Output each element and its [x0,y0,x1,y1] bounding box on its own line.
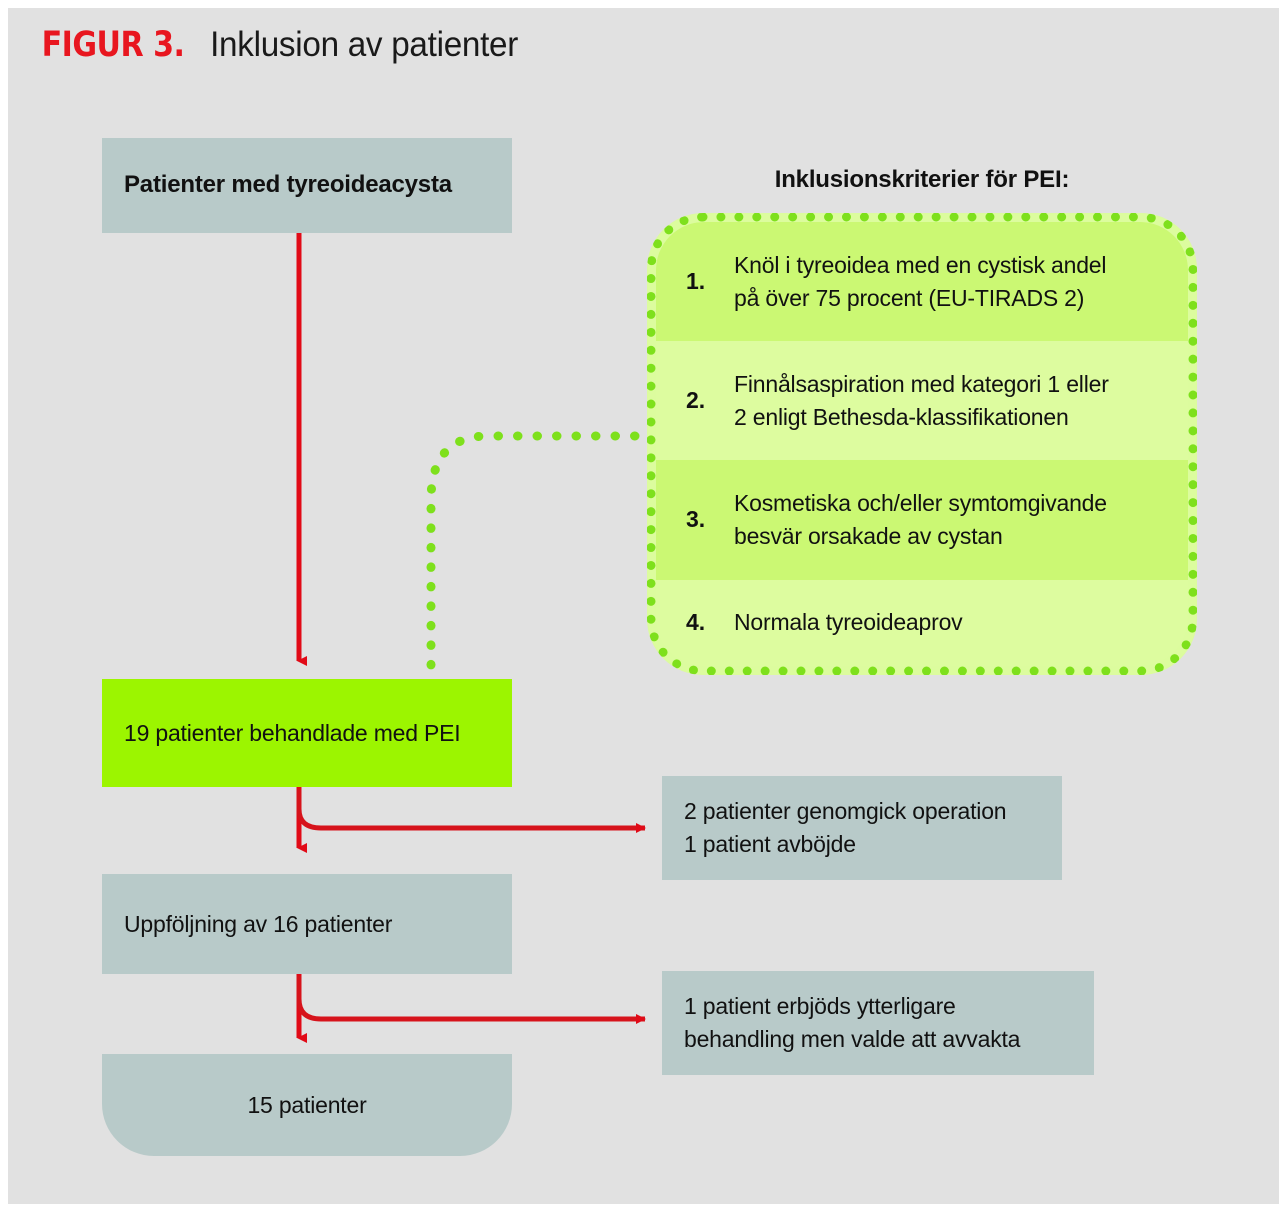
node-dropout-surgery-label: 2 patienter genomgick operation 1 patien… [662,795,1028,860]
criteria-item-text: Normala tyreoideaprov [734,606,962,639]
figure-title: FIGUR 3. Inklusion av patienter [30,25,1130,77]
figure-number-label: FIGUR 3. [42,25,185,65]
figure-container: FIGUR 3. Inklusion av patienter [0,0,1287,1220]
node-patients-with-cyst: Patienter med tyreoideacysta [102,138,512,233]
criteria-item-text: Finnålsaspiration med kategori 1 eller 2… [734,368,1109,433]
criteria-heading: Inklusionskriterier för PEI: [647,166,1197,194]
criteria-item-number: 1. [686,268,734,295]
arrow-pei-to-dropout-1 [299,788,645,828]
node-dropout-declined: 1 patient erbjöds ytterligare behandling… [662,971,1094,1075]
node-final-label: 15 patienter [102,1089,512,1122]
node-pei-label: 19 patienter behandlade med PEI [102,717,483,750]
criteria-item-number: 4. [686,609,734,636]
criteria-item: 1. Knöl i tyreoidea med en cystisk andel… [656,222,1188,341]
node-patients-label: Patienter med tyreoideacysta [102,168,474,202]
criteria-item: 2. Finnålsaspiration med kategori 1 elle… [656,341,1188,460]
node-dropout-surgery: 2 patienter genomgick operation 1 patien… [662,776,1062,880]
node-dropout-declined-label: 1 patient erbjöds ytterligare behandling… [662,990,1042,1055]
criteria-item: 4. Normala tyreoideaprov [656,580,1188,666]
figure-title-text: Inklusion av patienter [210,25,518,65]
node-followup: Uppföljning av 16 patienter [102,874,512,974]
figure-canvas: FIGUR 3. Inklusion av patienter [8,8,1279,1204]
node-final-patients: 15 patienter [102,1054,512,1156]
criteria-item: 3. Kosmetiska och/eller symtomgivande be… [656,460,1188,579]
node-followup-label: Uppföljning av 16 patienter [102,908,414,941]
criteria-panel: 1. Knöl i tyreoidea med en cystisk andel… [647,213,1197,675]
node-pei-treated: 19 patienter behandlade med PEI [102,679,512,787]
criteria-to-pei-connector [431,436,635,671]
criteria-item-text: Kosmetiska och/eller symtomgivande besvä… [734,487,1107,552]
criteria-item-number: 3. [686,506,734,533]
criteria-list: 1. Knöl i tyreoidea med en cystisk andel… [656,222,1188,666]
criteria-item-text: Knöl i tyreoidea med en cystisk andel på… [734,249,1106,314]
arrow-followup-to-dropout-2 [299,976,645,1019]
criteria-item-number: 2. [686,387,734,414]
